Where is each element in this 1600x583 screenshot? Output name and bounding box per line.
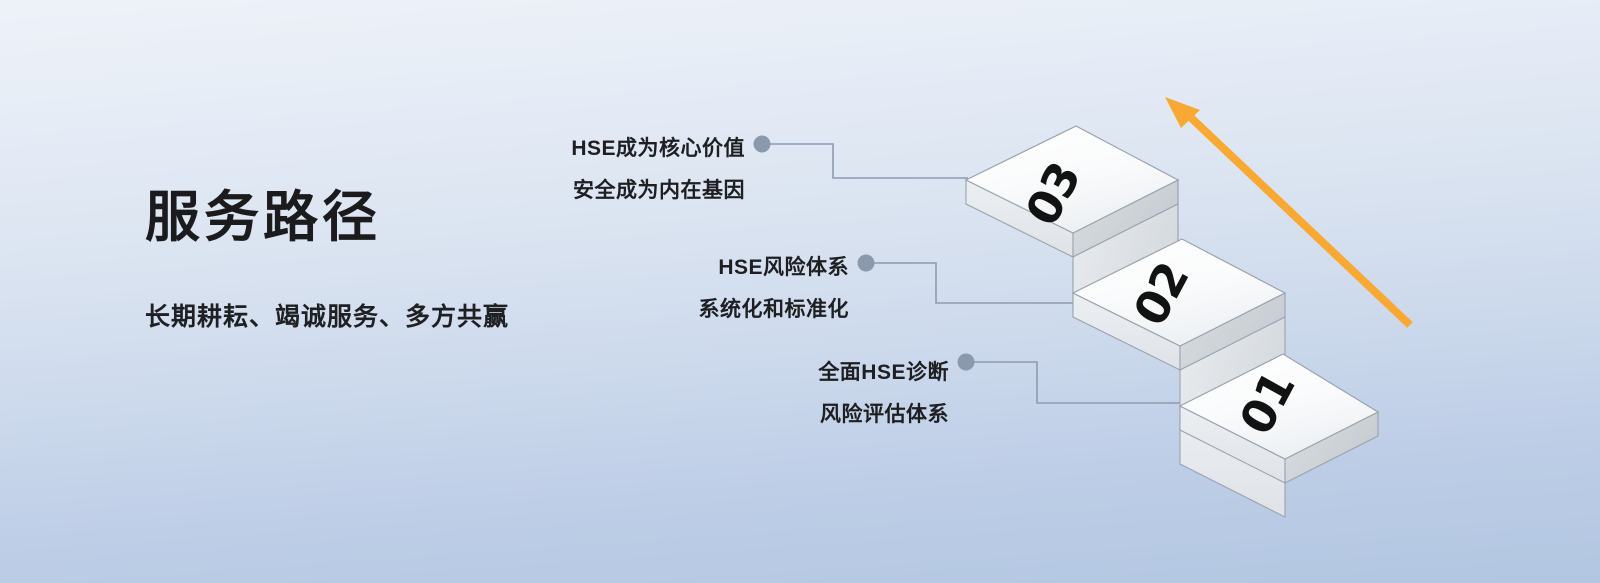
slide-canvas: 服务路径 长期耕耘、竭诚服务、多方共赢 HSE成为核心价值 安全成为内在基因 H…: [0, 0, 1600, 583]
connector-dot-02: [858, 255, 875, 272]
connector-line-03: [754, 136, 969, 179]
connector-line-02: [858, 255, 1084, 304]
diagram-overlay: [0, 0, 1600, 583]
connector-dot-01: [958, 354, 975, 371]
connector-dot-03: [754, 136, 771, 153]
